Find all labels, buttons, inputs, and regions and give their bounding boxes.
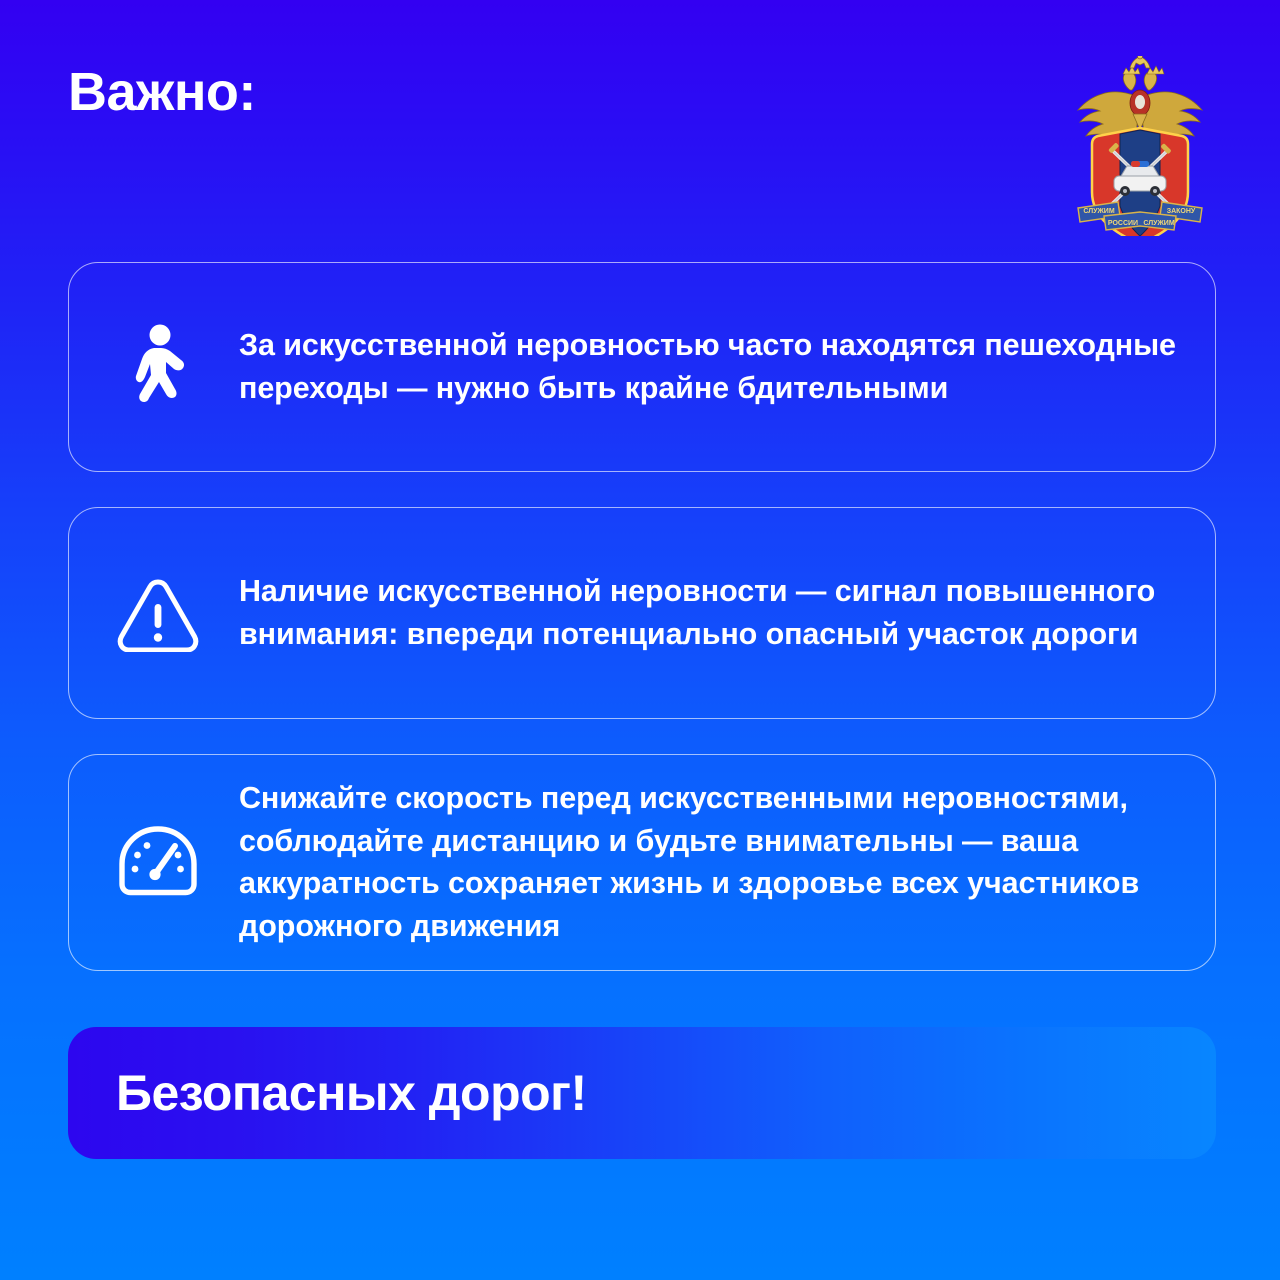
tip-card-warning: Наличие искусственной неровности — сигна… xyxy=(68,507,1216,719)
tip-card-text: За искусственной неровностью часто наход… xyxy=(239,324,1181,409)
header: Важно: xyxy=(68,56,1220,236)
poster-root: Важно: xyxy=(0,0,1280,1280)
pedestrian-icon xyxy=(99,317,217,417)
emblem-ribbon-text-4: ЗАКОНУ xyxy=(1167,208,1196,215)
page-title: Важно: xyxy=(68,64,256,121)
warning-triangle-icon xyxy=(99,563,217,663)
speedometer-icon xyxy=(99,812,217,912)
safe-roads-banner: Безопасных дорог! xyxy=(68,1027,1216,1159)
mvd-gibdd-emblem-icon: СЛУЖИМ ЗАКОНУ РОССИИ СЛУЖИМ xyxy=(1070,56,1210,236)
tip-card-speed: Снижайте скорость перед искусственными н… xyxy=(68,754,1216,971)
tip-card-pedestrian: За искусственной неровностью часто наход… xyxy=(68,262,1216,472)
emblem-ribbon-text-3: СЛУЖИМ xyxy=(1143,220,1175,227)
tip-card-text: Наличие искусственной неровности — сигна… xyxy=(239,570,1181,655)
emblem-ribbon-text-2: РОССИИ xyxy=(1108,220,1138,227)
tips-card-list: За искусственной неровностью часто наход… xyxy=(68,262,1216,971)
banner-text: Безопасных дорог! xyxy=(116,1068,587,1118)
tip-card-text: Снижайте скорость перед искусственными н… xyxy=(239,777,1181,948)
emblem-ribbon-text-1: СЛУЖИМ xyxy=(1083,208,1115,215)
